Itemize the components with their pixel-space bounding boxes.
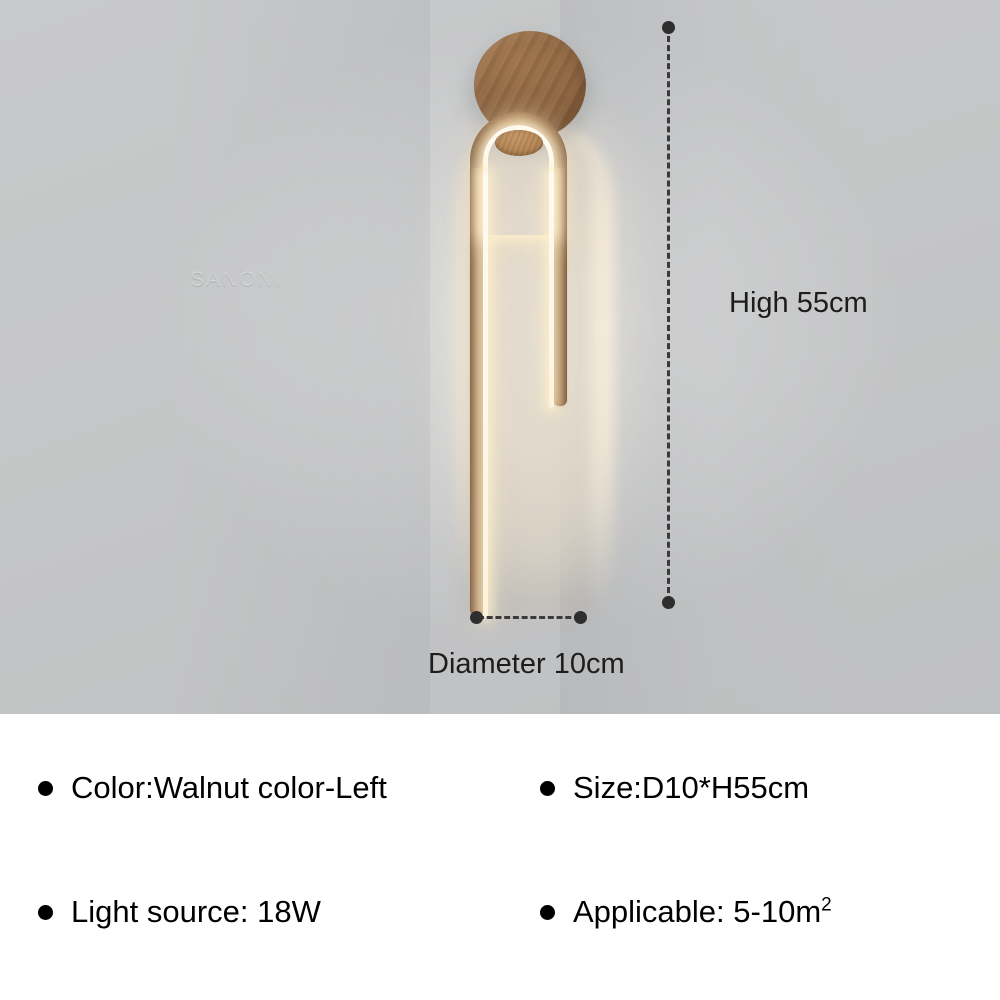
bullet-icon (38, 781, 53, 796)
spec-item-light-source: Light source: 18W (38, 894, 321, 930)
walnut-emitter-cap (495, 130, 543, 156)
wall-lamp-fixture (0, 0, 1000, 714)
led-strip-right (549, 172, 554, 408)
spec-size-text: Size:D10*H55cm (573, 770, 809, 806)
height-dimension-label: High 55cm (729, 287, 868, 320)
product-photo: SANONI High 55c (0, 0, 1000, 714)
walnut-arm-left (470, 168, 484, 615)
bullet-icon (38, 905, 53, 920)
walnut-arm-right (553, 168, 567, 406)
height-dimension-dot-bottom (662, 596, 675, 609)
spec-applicable-superscript: 2 (821, 895, 832, 916)
diameter-dimension-dot-right (574, 611, 587, 624)
diameter-dimension-line (478, 616, 580, 619)
bullet-icon (540, 781, 555, 796)
spec-light-source-text: Light source: 18W (71, 894, 321, 930)
height-dimension-dot-top (662, 21, 675, 34)
bullet-icon (540, 905, 555, 920)
height-dimension-line (667, 27, 670, 602)
specification-panel: Color:Walnut color-Left Size:D10*H55cm L… (0, 714, 1000, 1000)
diameter-dimension-dot-left (470, 611, 483, 624)
spec-color-text: Color:Walnut color-Left (71, 770, 387, 806)
led-strip-left (483, 172, 488, 617)
spec-item-applicable-area: Applicable: 5-10m2 (540, 894, 832, 930)
u-shaped-walnut-frame (470, 112, 586, 615)
diameter-dimension-label: Diameter 10cm (428, 648, 625, 681)
spec-item-color: Color:Walnut color-Left (38, 770, 387, 806)
spec-item-size: Size:D10*H55cm (540, 770, 809, 806)
product-image-page: SANONI High 55c (0, 0, 1000, 1000)
spec-applicable-text: Applicable: 5-10m2 (573, 894, 832, 930)
spec-applicable-value: Applicable: 5-10m (573, 894, 821, 929)
